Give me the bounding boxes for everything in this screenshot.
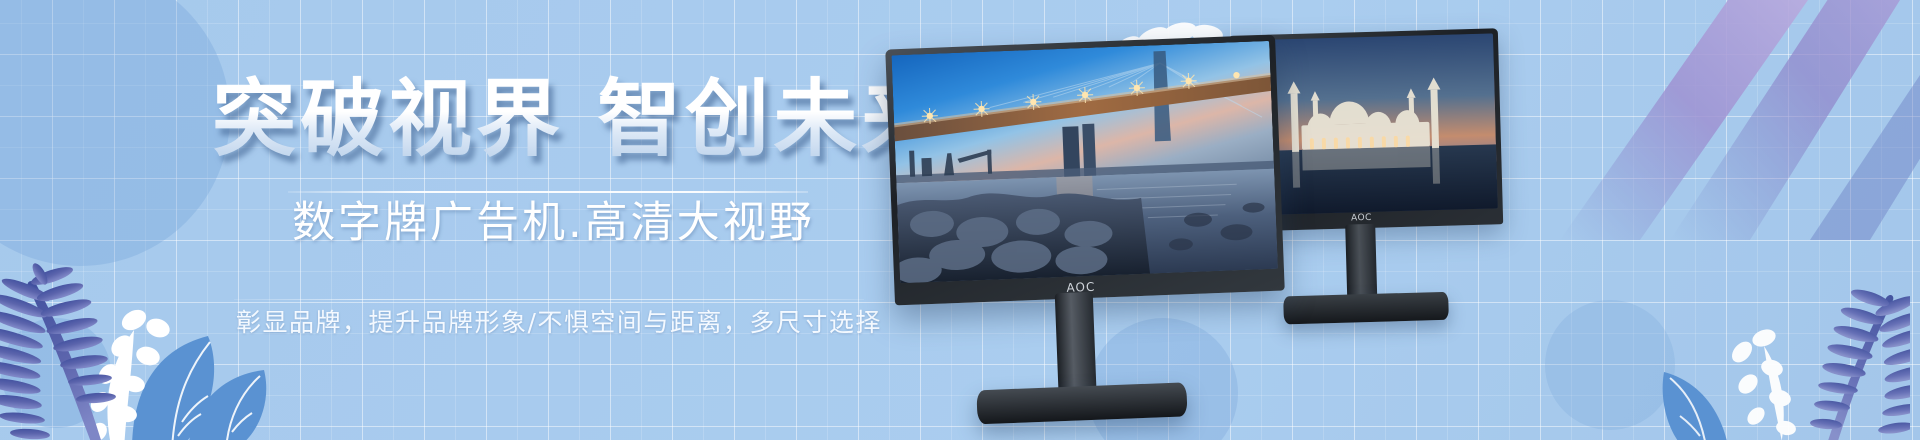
promo-banner: 突破视界 智创未来 数字牌广告机.高清大视野 彰显品牌，提升品牌形象/不惧空间与… <box>0 0 1920 440</box>
divider-top <box>288 191 808 193</box>
monitor-bezel <box>885 35 1285 306</box>
brand-logo-secondary: AOC <box>1351 213 1372 224</box>
product-imagery: AOC <box>880 0 1520 440</box>
page-title: 突破视界 智创未来 <box>212 72 949 166</box>
leaf-cluster-right-icon <box>1660 210 1910 440</box>
divider-bottom <box>234 299 864 300</box>
monitor-screen <box>891 41 1277 283</box>
tagline: 彰显品牌，提升品牌形象/不惧空间与距离，多尺寸选择 <box>236 306 882 340</box>
monitor-primary: AOC <box>885 35 1289 410</box>
monitor-stand-neck <box>1055 292 1097 399</box>
ribbon-decoration <box>1520 0 1920 240</box>
screen-image-bridge <box>891 41 1277 283</box>
monitor-stand-base <box>1283 292 1449 325</box>
monitor-stand-neck <box>1345 224 1377 303</box>
monitor-stand-base <box>976 382 1187 424</box>
subtitle: 数字牌广告机.高清大视野 <box>292 196 815 250</box>
decorative-circle <box>1545 300 1675 430</box>
banner-copy: 突破视界 智创未来 数字牌广告机.高清大视野 彰显品牌，提升品牌形象/不惧空间与… <box>0 0 900 440</box>
